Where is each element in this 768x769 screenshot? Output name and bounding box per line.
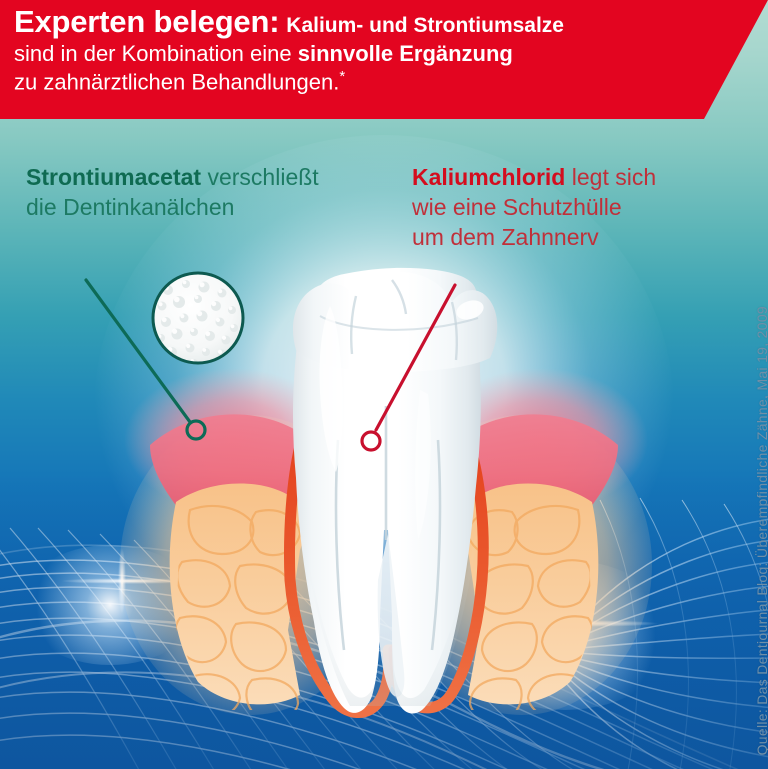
source-credit: Quelle: Das Dentjournal Blog: Überempfin… — [754, 306, 768, 755]
caption-right-line-1: Kaliumchlorid legt sich — [412, 163, 732, 193]
headline-line-2-bold: sinnvolle Ergänzung — [298, 41, 513, 66]
headline-line-3: zu zahnärztlichen Behandlungen.* — [14, 68, 704, 95]
caption-left-line-1: Strontiumacetat verschließt — [26, 163, 406, 193]
headline-line-3-text: zu zahnärztlichen Behandlungen. — [14, 70, 339, 95]
magnifier-circle — [146, 268, 250, 372]
headline-line-1: Experten belegen: Kalium- und Strontiums… — [14, 4, 704, 40]
headline-line-2-pre: sind in der Kombination eine — [14, 41, 298, 66]
caption-right-term: Kaliumchlorid — [412, 164, 565, 190]
headline-line-1-rest: Kalium- und Strontiumsalze — [286, 14, 564, 37]
caption-kaliumchlorid: Kaliumchlorid legt sich wie eine Schutzh… — [412, 163, 732, 253]
headline-emphasis: Experten belegen: — [14, 4, 279, 39]
caption-right-line-3: um dem Zahnnerv — [412, 223, 732, 253]
headline-line-2: sind in der Kombination eine sinnvolle E… — [14, 41, 704, 67]
caption-left-line-2: die Dentinkanälchen — [26, 193, 406, 223]
caption-strontiumacetat: Strontiumacetat verschließt die Dentinka… — [26, 163, 406, 223]
header-banner: Experten belegen: Kalium- und Strontiums… — [0, 0, 768, 119]
footnote-asterisk: * — [339, 68, 345, 85]
dentin-tubules-magnifier — [146, 268, 250, 372]
infographic-page: Experten belegen: Kalium- und Strontiums… — [0, 0, 768, 769]
caption-left-rest: verschließt — [201, 164, 319, 190]
header-text-block: Experten belegen: Kalium- und Strontiums… — [14, 4, 704, 95]
caption-right-rest: legt sich — [565, 164, 656, 190]
caption-right-line-2: wie eine Schutzhülle — [412, 193, 732, 223]
caption-left-term: Strontiumacetat — [26, 164, 201, 190]
